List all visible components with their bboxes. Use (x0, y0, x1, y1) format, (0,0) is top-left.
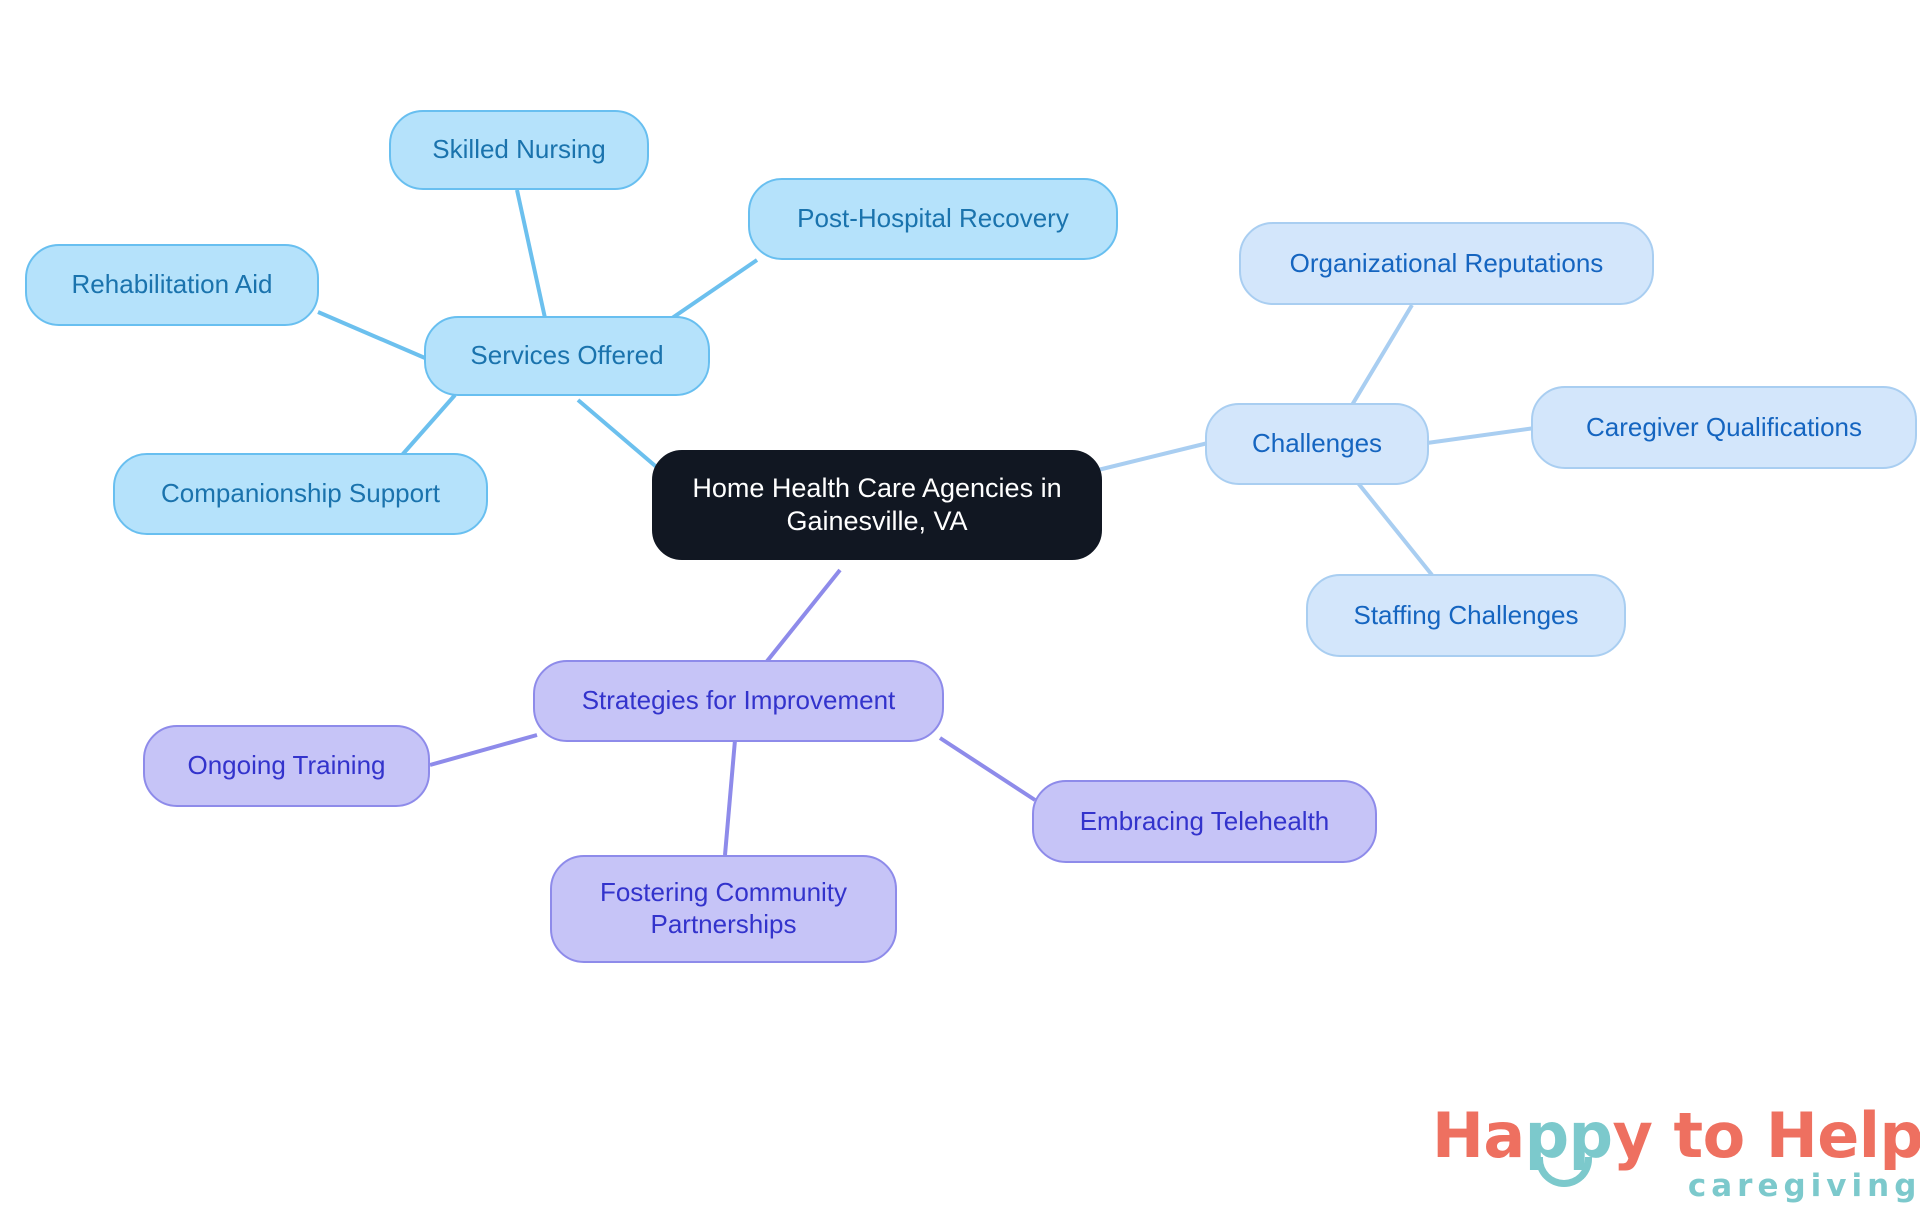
edge-services-rehabilitation-aid (318, 312, 425, 358)
edge-root-challenges (1098, 443, 1208, 470)
node-staffing-challenges[interactable]: Staffing Challenges (1306, 574, 1626, 657)
node-skilled-nursing[interactable]: Skilled Nursing (389, 110, 649, 190)
edge-challenges-caregiver-qualifications (1427, 428, 1535, 443)
node-rehabilitation-aid[interactable]: Rehabilitation Aid (25, 244, 319, 326)
logo-wordmark: Happy to Help caregiving (1432, 1105, 1920, 1167)
edge-root-services-offered (578, 400, 660, 470)
node-root[interactable]: Home Health Care Agencies in Gainesville… (652, 450, 1102, 560)
node-organizational-reputations[interactable]: Organizational Reputations (1239, 222, 1654, 305)
edge-challenges-staffing-challenges (1358, 483, 1432, 575)
node-post-hospital-recovery[interactable]: Post-Hospital Recovery (748, 178, 1118, 260)
edge-strategies-ongoing-training (430, 735, 537, 765)
node-caregiver-qualifications[interactable]: Caregiver Qualifications (1531, 386, 1917, 469)
logo-text-y: y (1613, 1099, 1653, 1172)
happy-to-help-logo: Happy to Help caregiving (1432, 1105, 1920, 1167)
node-companionship-support[interactable]: Companionship Support (113, 453, 488, 535)
logo-tagline: caregiving (1688, 1171, 1920, 1202)
smile-icon (1536, 1157, 1592, 1187)
edge-services-skilled-nursing (517, 190, 545, 318)
node-strategies-for-improvement[interactable]: Strategies for Improvement (533, 660, 944, 742)
logo-text-to-help: to Help (1652, 1099, 1920, 1172)
node-services-offered[interactable]: Services Offered (424, 316, 710, 396)
edge-challenges-organizational-reputations (1352, 305, 1412, 405)
edge-root-strategies-for-improvement (760, 570, 840, 670)
node-fostering-community-partnerships[interactable]: Fostering Community Partnerships (550, 855, 897, 963)
node-ongoing-training[interactable]: Ongoing Training (143, 725, 430, 807)
node-embracing-telehealth[interactable]: Embracing Telehealth (1032, 780, 1377, 863)
edge-strategies-embracing-telehealth (940, 738, 1035, 800)
mindmap-canvas: Home Health Care Agencies in Gainesville… (0, 0, 1920, 1215)
node-challenges[interactable]: Challenges (1205, 403, 1429, 485)
edge-strategies-fostering-community (725, 740, 735, 855)
logo-text-ha: Ha (1432, 1099, 1525, 1172)
